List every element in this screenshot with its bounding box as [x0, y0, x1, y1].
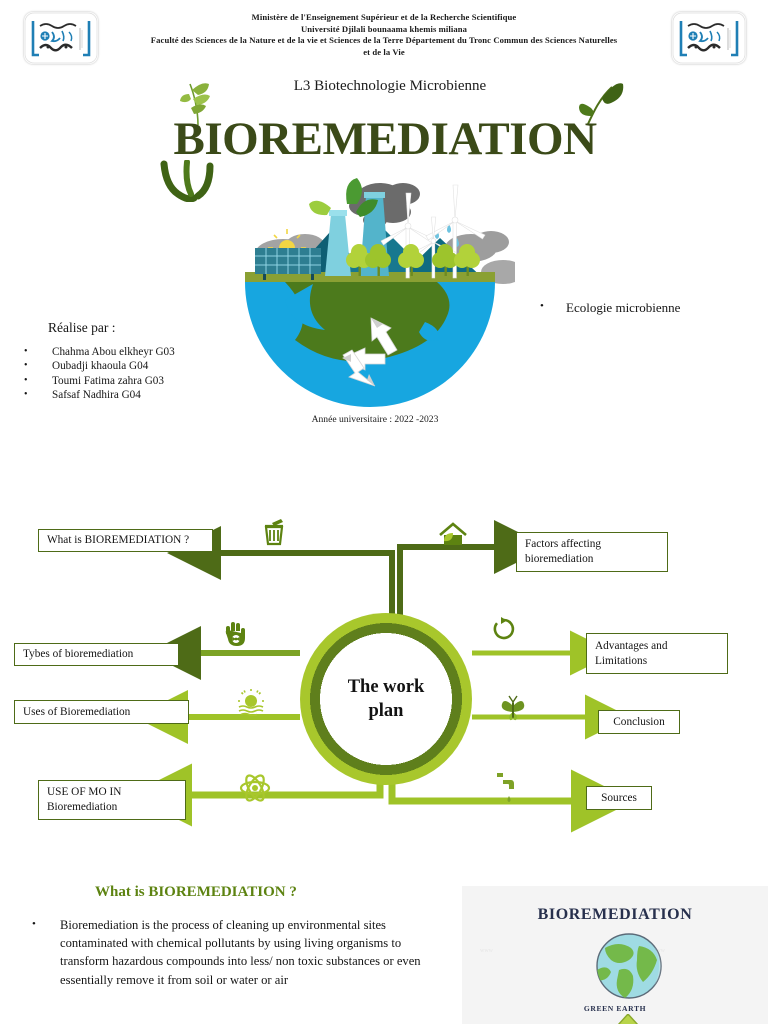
workplan-center-line1: The work	[348, 677, 425, 697]
authors-list: • Chahma Abou elkheyr G03 • Oubadji khao…	[20, 345, 270, 403]
workplan-box-what-is[interactable]: What is BIOREMEDIATION ?	[38, 529, 213, 552]
header-line-3: Faculté des Sciences de la Nature et de …	[108, 35, 660, 47]
workplan-box-label: Sources	[601, 791, 637, 806]
atom-icon	[239, 773, 271, 803]
author-name: Toumi Fatima zahra G03	[52, 374, 164, 388]
water-tap-drop-icon	[493, 769, 521, 803]
workplan-box-advantages[interactable]: Advantages and Limitations	[586, 633, 728, 674]
section-heading: What is BIOREMEDIATION ?	[95, 884, 297, 901]
university-logo-left	[24, 12, 98, 64]
workplan-box-factors[interactable]: Factors affecting bioremediation	[516, 532, 668, 572]
workplan-box-sources[interactable]: Sources	[586, 786, 652, 810]
triangle-shape	[604, 1014, 652, 1024]
bullet-icon: •	[20, 388, 52, 402]
workplan-box-conclusion[interactable]: Conclusion	[598, 710, 680, 734]
header-line-2: Université Djilali bounaama khemis milia…	[108, 24, 660, 36]
header-line-4: et de la Vie	[108, 47, 660, 59]
workplan-box-label: Advantages and	[595, 639, 667, 654]
list-item: • Chahma Abou elkheyr G03	[20, 345, 270, 359]
watermark-text: www	[480, 948, 493, 954]
author-name: Oubadji khaoula G04	[52, 359, 148, 373]
workplan-center-line2: plan	[369, 701, 404, 721]
header-line-1: Ministère de l'Enseignement Supérieur et…	[108, 12, 660, 24]
list-item: • Safsaf Nadhira G04	[20, 388, 270, 402]
workplan-box-use-of-mo[interactable]: USE OF MO IN Bioremediation	[38, 780, 186, 820]
bioremediation-image-panel: www www BIOREMEDIATION GREEN EARTH	[462, 886, 768, 1024]
section-paragraph: • Bioremediation is the process of clean…	[32, 916, 432, 989]
bullet-icon: •	[20, 345, 52, 359]
workplan-box-label: Factors affecting	[525, 537, 601, 552]
workplan-box-uses[interactable]: Uses of Bioremediation	[14, 700, 189, 724]
topic-item: • Ecologie microbienne	[540, 300, 680, 316]
sunrise-water-icon	[235, 688, 267, 716]
bullet-icon: •	[20, 374, 52, 388]
globe-icon	[593, 930, 665, 1002]
slide-root: Ministère de l'Enseignement Supérieur et…	[0, 0, 768, 1024]
author-name: Safsaf Nadhira G04	[52, 388, 141, 402]
workplan-box-label: What is BIOREMEDIATION ?	[47, 533, 189, 548]
workplan-center-label: The workplan	[348, 675, 425, 723]
workplan-box-label-2: Limitations	[595, 654, 647, 669]
author-name: Chahma Abou elkheyr G03	[52, 345, 175, 359]
bullet-icon: •	[20, 359, 52, 373]
institution-header: Ministère de l'Enseignement Supérieur et…	[108, 12, 660, 58]
authors-label: Réalise par :	[48, 320, 115, 336]
workplan-box-label: Uses of Bioremediation	[23, 705, 130, 720]
academic-year: Année universitaire : 2022 -2023	[250, 414, 500, 425]
university-logo-right	[672, 12, 746, 64]
page-title: BIOREMEDIATION	[100, 112, 670, 166]
workplan-box-label-2: bioremediation	[525, 552, 593, 567]
course-subtitle: L3 Biotechnologie Microbienne	[180, 78, 600, 95]
topic-label: Ecologie microbienne	[566, 300, 680, 316]
list-item: • Oubadji khaoula G04	[20, 359, 270, 373]
list-item: • Toumi Fatima zahra G03	[20, 374, 270, 388]
workplan-box-label: Conclusion	[613, 715, 664, 730]
panel-caption: GREEN EARTH	[462, 1004, 768, 1013]
trash-bin-icon	[259, 517, 289, 547]
section-body-text: Bioremediation is the process of cleanin…	[60, 916, 432, 989]
eco-house-icon	[436, 521, 470, 549]
workplan-box-label: USE OF MO IN	[47, 785, 121, 800]
bullet-icon: •	[32, 916, 60, 989]
panel-title: BIOREMEDIATION	[462, 906, 768, 924]
recycle-arrow-icon	[491, 616, 517, 642]
leaf-icon	[160, 160, 218, 202]
workplan-center-circle: The workplan	[300, 613, 472, 785]
workplan-box-label: Tybes of bioremediation	[23, 647, 133, 662]
bullet-icon: •	[540, 300, 566, 312]
workplan-box-types[interactable]: Tybes of bioremediation	[14, 643, 179, 666]
radioactive-hand-icon	[221, 618, 249, 648]
butterfly-icon	[500, 694, 526, 722]
workplan-box-label-2: Bioremediation	[47, 800, 117, 815]
